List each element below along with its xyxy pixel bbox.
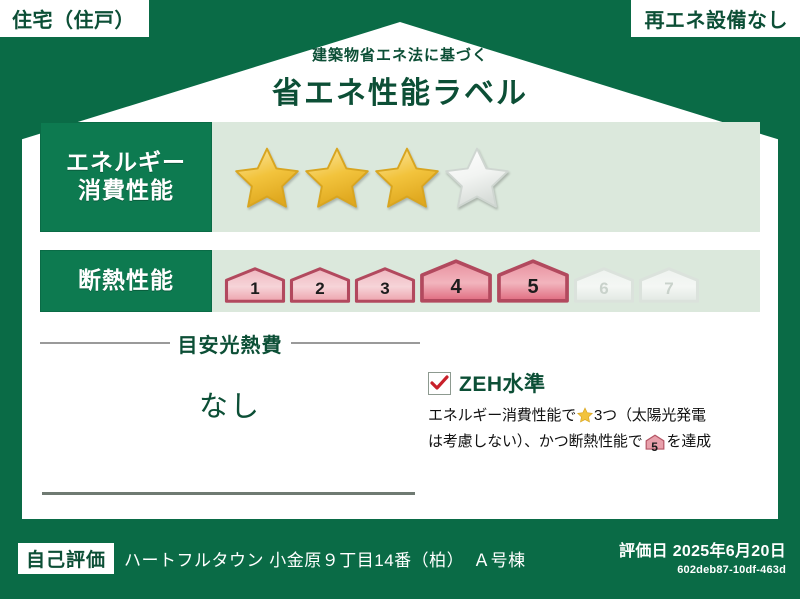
energy-performance-label-line1: エネルギー [66,149,186,177]
inline-star-icon [577,407,593,430]
footer-left: 自己評価 ハートフルタウン 小金原９丁目14番（柏） Ａ号棟 [18,543,526,574]
insulation-grade-value: 3 [354,279,416,299]
insulation-grade-badge: 7 [638,267,700,303]
self-evaluation-badge: 自己評価 [18,543,114,574]
insulation-grade-badge: 5 [496,259,570,303]
page-main-title: 省エネ性能ラベル [0,68,800,112]
insulation-grade-badge: 6 [573,267,635,303]
insulation-performance-row: 断熱性能 1234567 [40,250,760,312]
energy-performance-label: エネルギー 消費性能 [40,122,212,232]
star-icon-filled [374,145,440,209]
zeh-block: ZEH水準 エネルギー消費性能で3つ（太陽光発電 は考慮しない）、かつ断熱性能で… [428,368,768,458]
insulation-grade-badge: 3 [354,267,416,303]
utility-cost-heading-text: 目安光熱費 [170,329,291,358]
zeh-description: エネルギー消費性能で3つ（太陽光発電 は考慮しない）、かつ断熱性能で5を達成 [428,404,768,458]
insulation-grade-badge: 1 [224,267,286,303]
building-type-tag: 住宅（住戸） [0,0,150,38]
insulation-performance-label-line1: 断熱性能 [78,267,174,295]
energy-performance-value [212,122,760,232]
insulation-grade-value: 2 [289,279,351,299]
evaluation-date-value: 2025年6月20日 [673,543,786,560]
star-icon-empty [444,145,510,209]
insulation-grade-value: 4 [419,276,493,299]
evaluation-date: 評価日 2025年6月20日 [619,537,786,561]
page-title: 建築物省エネ法に基づく 省エネ性能ラベル [0,44,800,112]
insulation-performance-label: 断熱性能 [40,250,212,312]
evaluation-date-label: 評価日 [619,543,668,560]
star-icon-filled [234,145,300,209]
evaluation-id: 602deb87-10df-463d [619,564,786,576]
star-icon-filled [304,145,370,209]
utility-cost-heading: 目安光熱費 [40,330,420,356]
zeh-desc-part2: 3つ（太陽光発電 [594,407,706,424]
insulation-grade-scale: 1234567 [224,259,700,303]
utility-cost-underline [42,492,415,495]
zeh-desc-part4: を達成 [667,433,711,450]
star-rating [222,145,510,209]
zeh-checkbox[interactable] [428,372,451,395]
insulation-grade-value: 1 [224,279,286,299]
insulation-grade-value: 5 [496,276,570,299]
inline-insulation-badge: 5 [645,434,665,457]
inline-badge-value: 5 [645,438,665,457]
insulation-grade-badge: 4 [419,259,493,303]
footer-right: 評価日 2025年6月20日 602deb87-10df-463d [619,537,786,576]
energy-performance-label-line2: 消費性能 [78,177,174,205]
property-address: ハートフルタウン 小金原９丁目14番（柏） Ａ号棟 [124,546,526,571]
insulation-grade-badge: 2 [289,267,351,303]
insulation-performance-value: 1234567 [212,250,760,312]
energy-performance-row: エネルギー 消費性能 [40,122,760,232]
zeh-desc-part3: は考慮しない）、かつ断熱性能で [428,433,643,450]
insulation-grade-value: 6 [573,279,635,299]
zeh-title-row: ZEH水準 [428,368,768,398]
zeh-standard-label: ZEH水準 [459,368,546,398]
insulation-grade-value: 7 [638,279,700,299]
energy-performance-label: 住宅（住戸） 再エネ設備なし 建築物省エネ法に基づく 省エネ性能ラベル エネルギ… [0,0,800,599]
renewable-equipment-tag: 再エネ設備なし [630,0,800,38]
footer: 自己評価 ハートフルタウン 小金原９丁目14番（柏） Ａ号棟 評価日 2025年… [0,521,800,599]
divider-line-right [291,342,421,344]
utility-cost-value: なし [40,383,420,425]
zeh-desc-part1: エネルギー消費性能で [428,407,576,424]
page-subtitle: 建築物省エネ法に基づく [0,44,800,65]
divider-line-left [40,342,170,344]
check-icon [430,375,449,391]
